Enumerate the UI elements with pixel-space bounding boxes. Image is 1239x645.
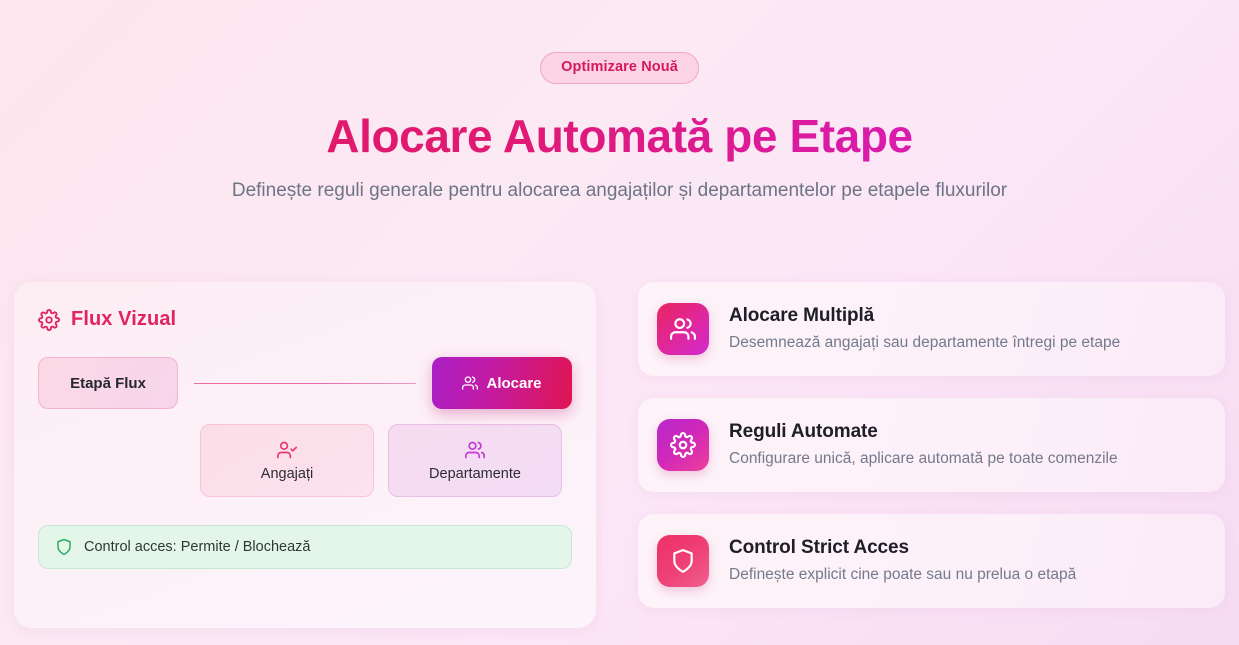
feature-title: Alocare Multiplă <box>729 305 1120 327</box>
feature-text-block: Reguli Automate Configurare unică, aplic… <box>729 421 1118 468</box>
access-control-text: Control acces: Permite / Blochează <box>84 539 310 555</box>
status-badge: Optimizare Nouă <box>540 52 699 84</box>
allocate-button[interactable]: Alocare <box>432 357 572 409</box>
feature-title: Control Strict Acces <box>729 537 1076 559</box>
shield-icon <box>657 535 709 587</box>
users-icon <box>465 440 485 460</box>
feature-description: Desemnează angajați sau departamente înt… <box>729 333 1120 352</box>
feature-card-automated-rules[interactable]: Reguli Automate Configurare unică, aplic… <box>638 398 1225 492</box>
shield-icon <box>55 538 73 556</box>
allocate-button-label: Alocare <box>486 375 541 392</box>
page-title: Alocare Automată pe Etape <box>0 110 1239 163</box>
feature-description: Configurare unică, aplicare automată pe … <box>729 449 1118 468</box>
feature-title: Reguli Automate <box>729 421 1118 443</box>
page-root: Optimizare Nouă Alocare Automată pe Etap… <box>0 0 1239 645</box>
users-icon <box>462 375 478 391</box>
allocation-target-group: Angajați Departamente <box>200 424 562 497</box>
gear-icon <box>38 309 60 331</box>
flow-connector-line <box>194 383 416 384</box>
feature-description: Definește explicit cine poate sau nu pre… <box>729 565 1076 584</box>
user-check-icon <box>277 440 297 460</box>
content-columns: Flux Vizual Etapă Flux Alocare <box>14 282 1225 628</box>
feature-list: Alocare Multiplă Desemnează angajați sau… <box>638 282 1225 608</box>
flow-visual-card: Flux Vizual Etapă Flux Alocare <box>14 282 596 628</box>
feature-text-block: Control Strict Acces Definește explicit … <box>729 537 1076 584</box>
target-card-departments-label: Departamente <box>429 466 521 482</box>
flow-card-title: Flux Vizual <box>71 308 176 331</box>
feature-text-block: Alocare Multiplă Desemnează angajați sau… <box>729 305 1120 352</box>
target-card-employees-label: Angajați <box>261 466 313 482</box>
access-control-note: Control acces: Permite / Blochează <box>38 525 572 569</box>
flow-diagram-row: Etapă Flux Alocare <box>38 357 572 409</box>
target-card-departments[interactable]: Departamente <box>388 424 562 497</box>
feature-card-strict-access[interactable]: Control Strict Acces Definește explicit … <box>638 514 1225 608</box>
flow-card-header: Flux Vizual <box>38 308 572 331</box>
feature-card-multi-allocation[interactable]: Alocare Multiplă Desemnează angajați sau… <box>638 282 1225 376</box>
hero-section: Optimizare Nouă Alocare Automată pe Etap… <box>0 0 1239 207</box>
target-card-employees[interactable]: Angajați <box>200 424 374 497</box>
stage-node[interactable]: Etapă Flux <box>38 357 178 409</box>
page-subtitle: Definește reguli generale pentru alocare… <box>200 176 1040 207</box>
gear-icon <box>657 419 709 471</box>
users-icon <box>657 303 709 355</box>
